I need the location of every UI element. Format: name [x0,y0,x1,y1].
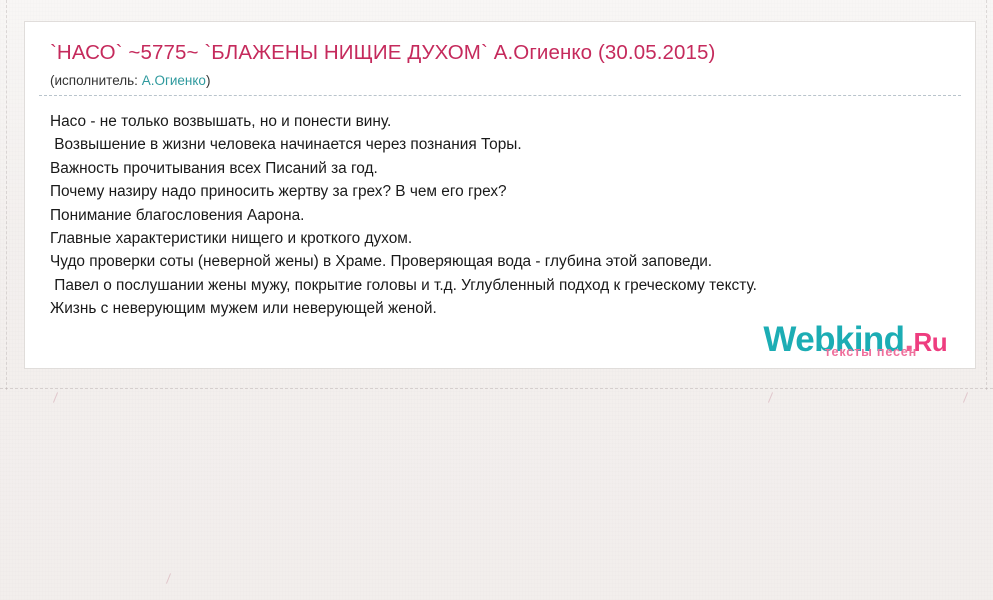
background-edge-right [986,0,987,390]
lyric-line: Возвышение в жизни человека начинается ч… [50,133,961,156]
song-card: `НАСО` ~5775~ `БЛАЖЕНЫ НИЩИЕ ДУХОМ` А.Ог… [25,22,975,368]
site-logo[interactable]: Webkind.Ru тексты песен [763,322,947,360]
lyrics-text-block: Насо - не только возвышать, но и понести… [39,96,961,321]
performer-suffix-label: ) [206,73,211,88]
page-title: `НАСО` ~5775~ `БЛАЖЕНЫ НИЩИЕ ДУХОМ` А.Ог… [39,40,961,66]
background-speck [166,573,171,584]
lyric-line: Понимание благословения Аарона. [50,204,961,227]
performer-prefix-label: (исполнитель: [50,73,142,88]
lyric-line: Жизнь с неверующим мужем или неверующей … [50,297,961,320]
background-speck [768,392,773,403]
lyric-line: Насо - не только возвышать, но и понести… [50,110,961,133]
background-dashed-rule [0,388,993,389]
site-logo-tagline: тексты песен [825,346,917,359]
background-speck [53,392,58,403]
performer-link[interactable]: А.Огиенко [142,73,206,88]
site-logo-tld: Ru [914,327,947,357]
lyric-line: Почему назиру надо приносить жертву за г… [50,180,961,203]
background-edge-left [6,0,7,390]
lyric-line: Павел о послушании жены мужу, покрытие г… [50,274,961,297]
performer-line: (исполнитель: А.Огиенко) [39,66,961,96]
lyric-line: Главные характеристики нищего и кроткого… [50,227,961,250]
lyric-line: Важность прочитывания всех Писаний за го… [50,157,961,180]
background-speck [963,392,968,403]
lyric-line: Чудо проверки соты (неверной жены) в Хра… [50,250,961,273]
